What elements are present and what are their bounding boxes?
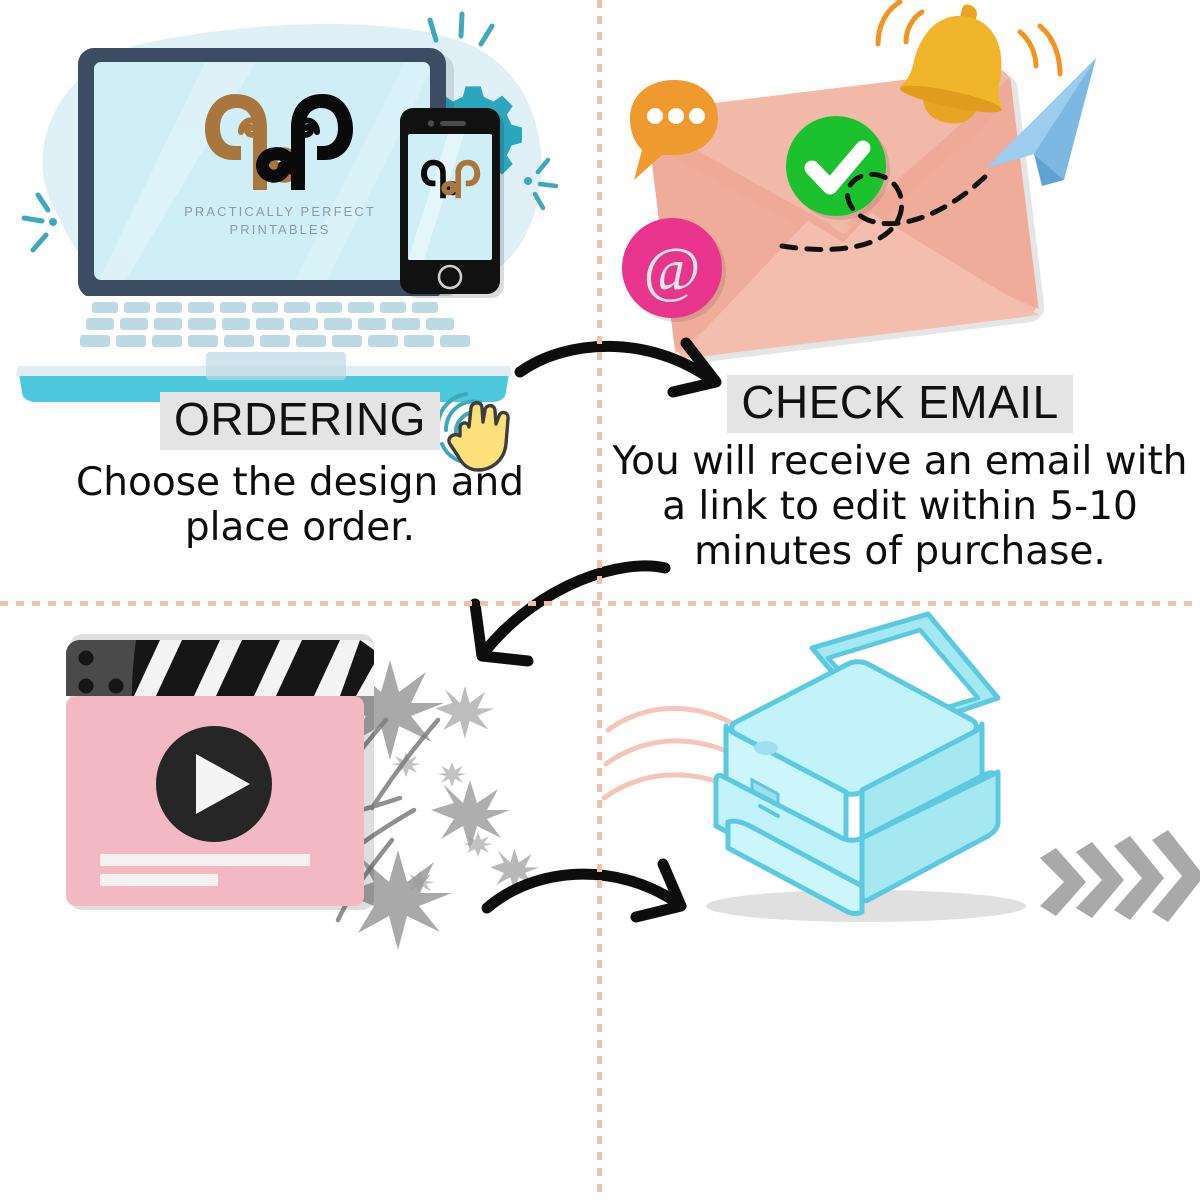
- monogram-icon: [195, 72, 365, 202]
- check-email-caption: CHECK EMAIL You will receive an email wi…: [600, 375, 1200, 574]
- smartphone-icon: [400, 108, 510, 303]
- laptop-trackpad: [206, 352, 346, 380]
- brand-wordmark-line2: PRINTABLES: [180, 222, 380, 237]
- clapperboard-hinge: [66, 640, 136, 696]
- step-body-ordering: Choose the design and place order.: [20, 460, 580, 550]
- svg-text:@: @: [643, 236, 700, 304]
- play-button-icon: [156, 726, 272, 842]
- step-body-check-email: You will receive an email with a link to…: [605, 439, 1195, 575]
- clapperboard-text-line-1: [100, 854, 310, 866]
- envelope-scene-svg: @: [600, 0, 1200, 400]
- step-panel-check-email: @: [600, 0, 1200, 600]
- horizontal-divider: [0, 601, 1200, 606]
- production-illustration: [0, 600, 600, 1200]
- clapperboard-icon: [62, 624, 382, 914]
- printer-indicator-light: [754, 741, 778, 755]
- clapperboard-top: [66, 640, 374, 696]
- ordering-caption: ORDERING Choose the design and place ord…: [0, 392, 600, 550]
- step-header-check-email: CHECK EMAIL: [727, 375, 1072, 433]
- step-panel-production: PRODUCTION You're the producer! Use the …: [0, 600, 600, 1200]
- brand-wordmark-line1: PRACTICALLY PERFECT: [180, 204, 380, 219]
- monogram-icon-phone: [417, 150, 485, 204]
- step-header-ordering: ORDERING: [160, 392, 440, 450]
- printer-illustration: [600, 600, 1200, 1200]
- chevron-trail-icon: [1040, 830, 1200, 922]
- brand-logo-on-laptop: PRACTICALLY PERFECT PRINTABLES: [180, 72, 380, 237]
- vertical-divider: [597, 0, 602, 1200]
- printer-scene-svg: [600, 600, 1200, 940]
- step-panel-print-enjoy: PRINT & ENJOY! Download your new designs…: [600, 600, 1200, 1200]
- infographic-canvas: PRACTICALLY PERFECT PRINTABLES: [0, 0, 1200, 1200]
- step-panel-ordering: PRACTICALLY PERFECT PRINTABLES: [0, 0, 600, 600]
- clapperboard-text-line-2: [100, 874, 218, 886]
